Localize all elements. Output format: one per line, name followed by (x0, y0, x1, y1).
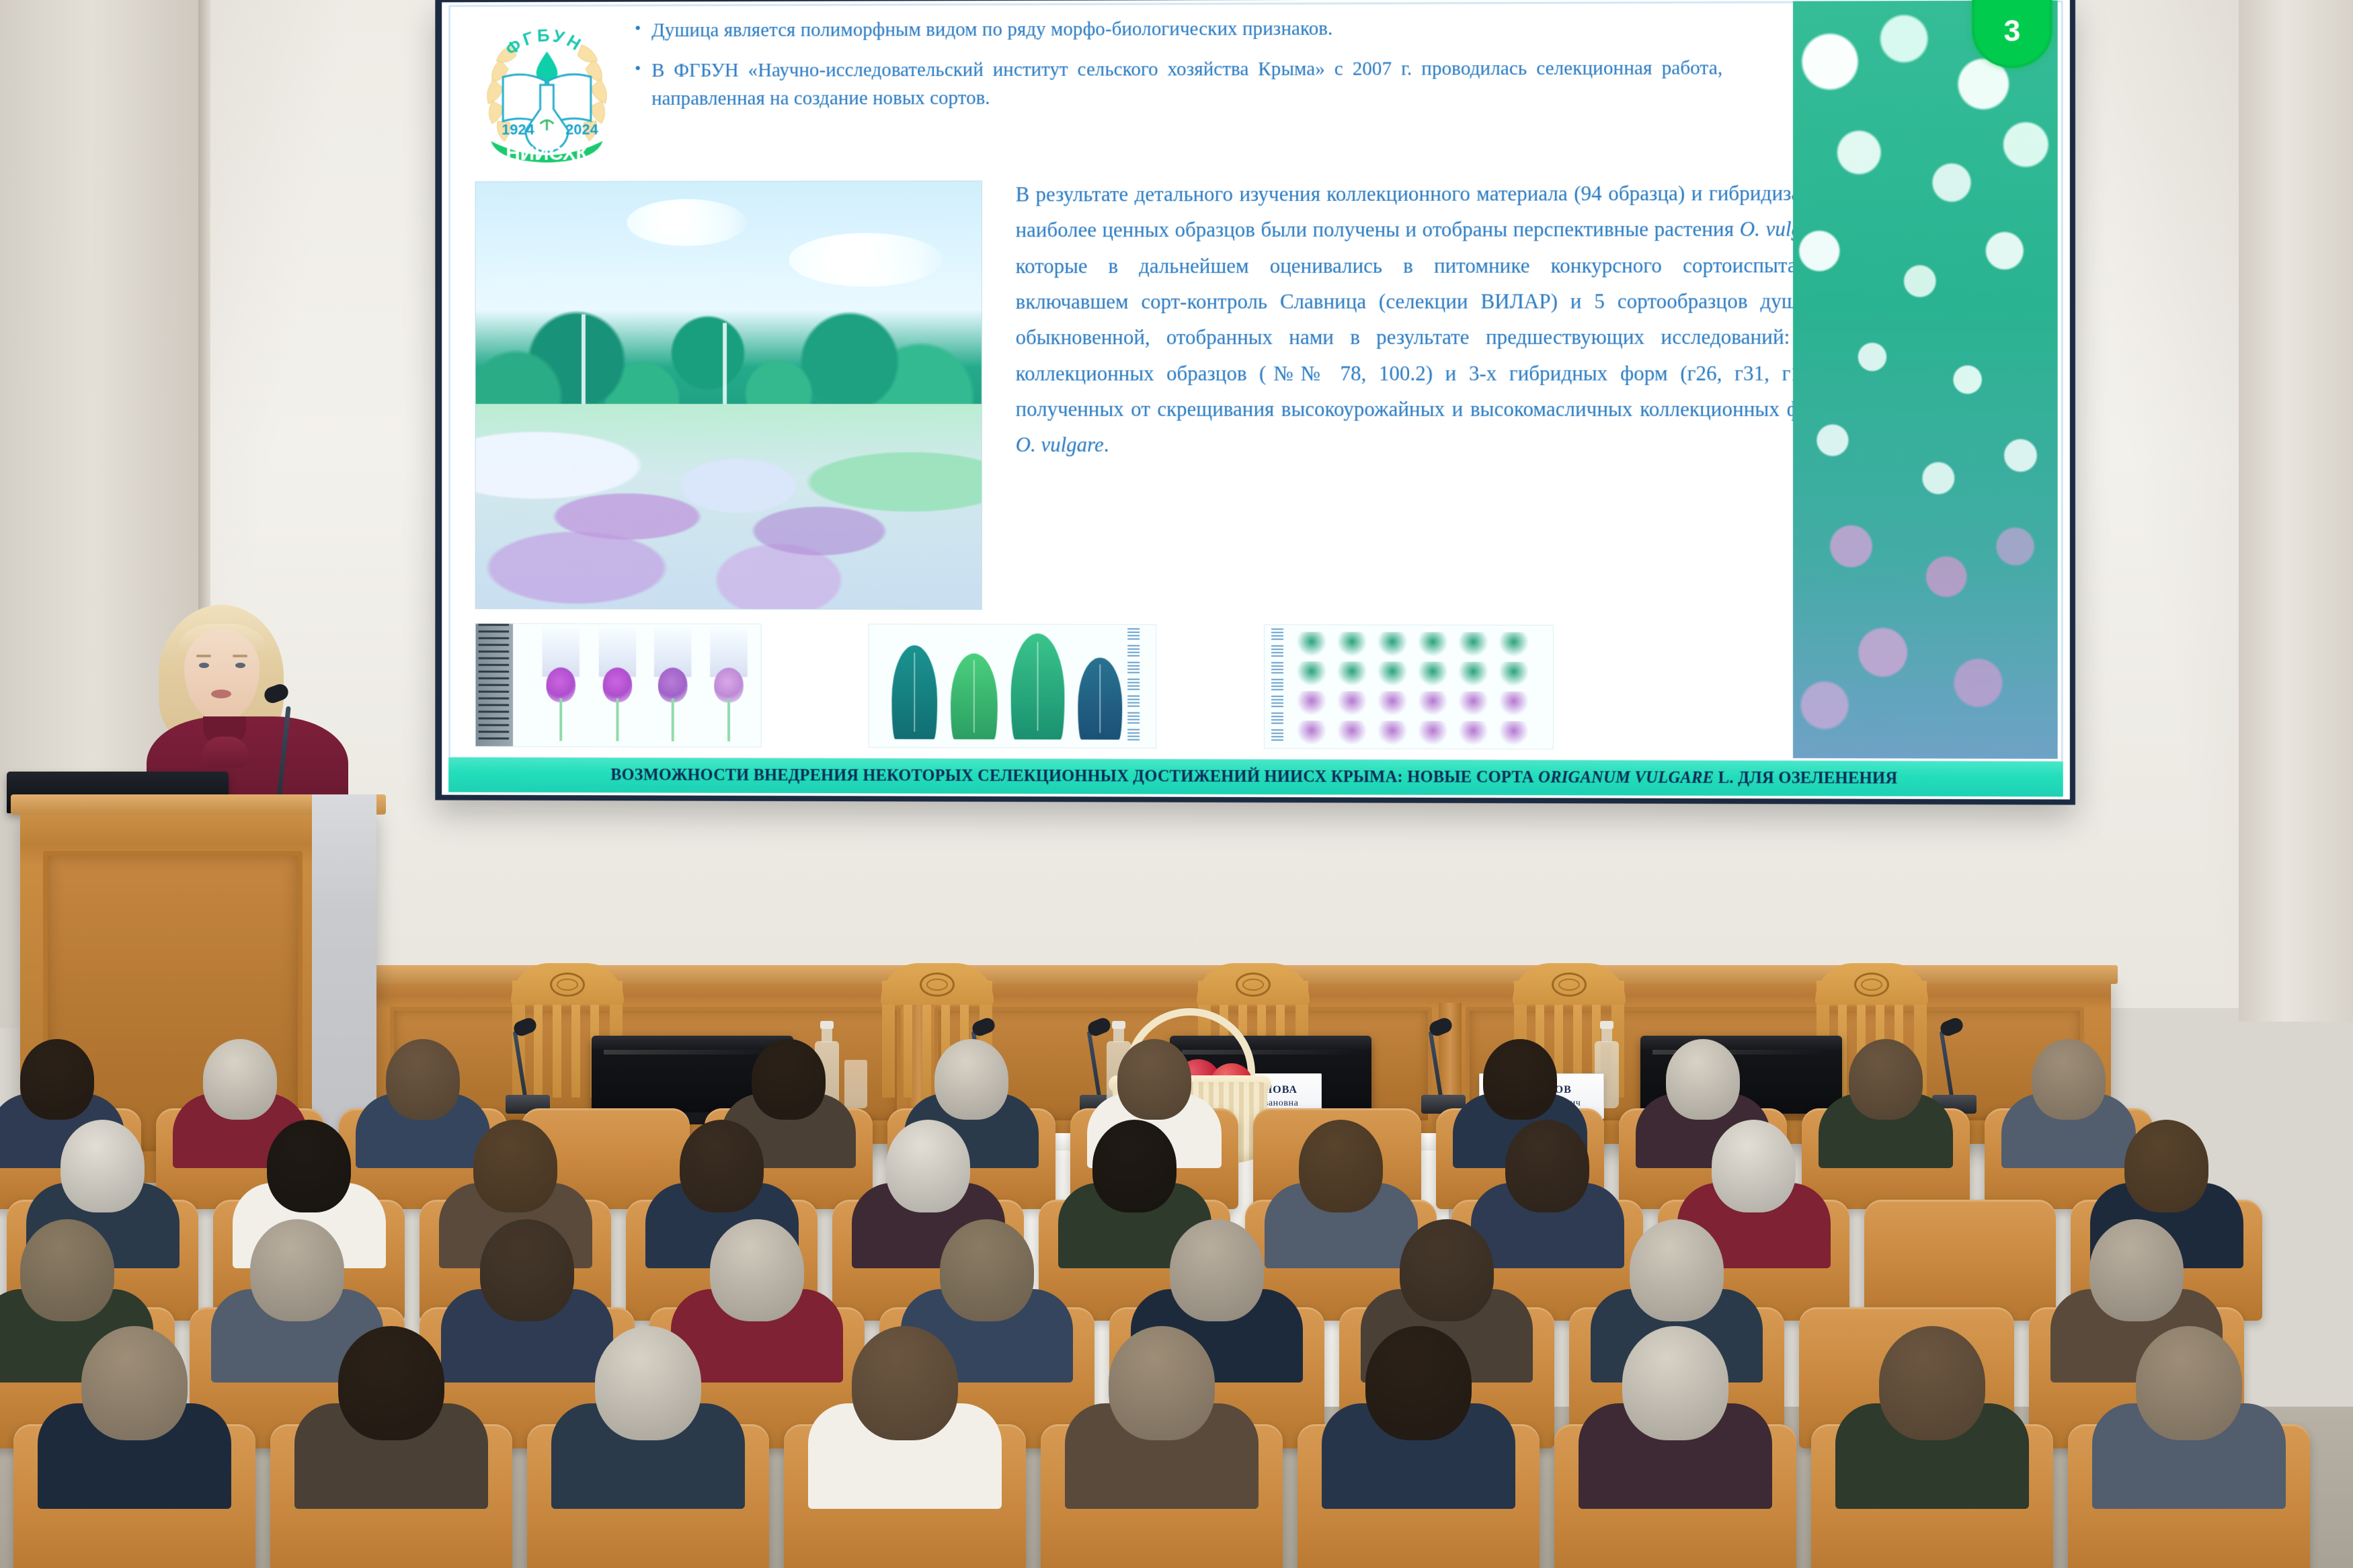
pressed-specimen (1499, 692, 1529, 716)
audience-member-head (480, 1219, 574, 1321)
pressed-specimen (1458, 721, 1488, 745)
audience-member-head (1117, 1039, 1191, 1120)
leaf-specimen (891, 645, 937, 739)
leaf-specimen (1078, 658, 1122, 740)
pressed-specimen (1378, 661, 1407, 686)
pressed-specimen (1418, 661, 1447, 686)
pressed-specimen (1297, 720, 1326, 745)
audience-member-head (2124, 1120, 2208, 1212)
cloud-shape (789, 233, 943, 286)
mouth (211, 690, 231, 698)
audience-member-head (710, 1219, 804, 1321)
audience-member-head (473, 1120, 557, 1212)
pressed-specimen (1499, 721, 1529, 745)
pressed-specimen (1418, 721, 1447, 745)
audience-member-head (203, 1039, 277, 1120)
audience-member-head (1666, 1039, 1740, 1120)
right-wall-pillar (2239, 0, 2353, 1022)
svg-text:НИИСХК: НИИСХК (506, 142, 588, 165)
pressed-specimen (1378, 720, 1407, 745)
audience-member-head (2089, 1219, 2184, 1321)
bullet-item: • В ФГБУН «Научно-исследовательский инст… (635, 54, 1722, 113)
audience-member-head (1109, 1326, 1215, 1440)
eyebrow (196, 655, 211, 657)
pressed-specimen (1297, 661, 1326, 686)
bullet-text: В ФГБУН «Научно-исследовательский инстит… (651, 54, 1722, 113)
audience-member-head (852, 1326, 958, 1440)
audience-member-head (338, 1326, 444, 1440)
audience-member-head (1092, 1120, 1176, 1212)
audience-member-head (1505, 1120, 1589, 1212)
eye (235, 663, 245, 668)
slide-footer-text: ВОЗМОЖНОСТИ ВНЕДРЕНИЯ НЕКОТОРЫХ СЕЛЕКЦИО… (610, 766, 1897, 788)
pressed-specimen (1499, 662, 1529, 686)
audience-member-head (267, 1120, 351, 1212)
pressed-specimen (1458, 662, 1488, 686)
audience-member-head (1365, 1326, 1472, 1440)
audience-member-head (1849, 1039, 1923, 1120)
presentation-slide: ФГБУН 1924 2024 (442, 0, 2070, 799)
field-photo (475, 181, 982, 610)
leaf-specimen (1011, 633, 1065, 739)
pressed-specimen (1418, 692, 1447, 716)
pressed-specimen (1337, 691, 1367, 715)
bullet-dot-icon: • (635, 16, 641, 40)
tall-plantation-photo (1793, 1, 2058, 759)
audience-member-head (886, 1120, 970, 1212)
audience-member-head (940, 1219, 1034, 1321)
audience-member-head (386, 1039, 460, 1120)
leaf-specimen (951, 653, 998, 739)
audience-member-head (1622, 1326, 1728, 1440)
pressed-specimen (1337, 632, 1367, 656)
slide-bullet-list: • Душица является полиморфным видом по р… (635, 13, 1722, 125)
pressed-specimen (1458, 692, 1488, 716)
cloud-shape (627, 199, 748, 246)
audience-member-head (1170, 1219, 1264, 1321)
pressed-specimen (1378, 632, 1407, 656)
bullet-text: Душица является полиморфным видом по ряд… (651, 13, 1722, 44)
pressed-specimen (1378, 691, 1407, 715)
ruler-icon (1127, 625, 1150, 748)
projection-screen: ФГБУН 1924 2024 (442, 0, 2070, 799)
blouse-bow (202, 737, 249, 768)
audience-member-head (1712, 1120, 1796, 1212)
institute-logo: ФГБУН 1924 2024 (474, 13, 621, 165)
flower-specimens-photo (475, 623, 762, 747)
pressed-specimen (1458, 632, 1488, 657)
pressed-specimen (1297, 632, 1326, 656)
audience-member-head (1630, 1219, 1724, 1321)
projection-screen-frame: ФГБУН 1924 2024 (435, 0, 2075, 805)
audience-member-head (1299, 1120, 1383, 1212)
audience-member-head (934, 1039, 1008, 1120)
audience-member-head (20, 1219, 114, 1321)
slide-paragraph: В результате детального изучения коллекц… (1016, 175, 1835, 463)
conference-hall-photo: ФГБУН 1924 2024 (0, 0, 2353, 1568)
slide-footer-banner: ВОЗМОЖНОСТИ ВНЕДРЕНИЯ НЕКОТОРЫХ СЕЛЕКЦИО… (448, 757, 2063, 796)
ruler-icon (476, 624, 513, 746)
audience-member-head (20, 1039, 94, 1120)
audience-member-head (2032, 1039, 2106, 1120)
eye (199, 663, 209, 668)
bullet-item: • Душица является полиморфным видом по р… (635, 13, 1722, 44)
pressed-specimen (1499, 632, 1529, 657)
audience-member-head (81, 1326, 188, 1440)
pressed-specimen (1418, 632, 1447, 656)
pressed-specimen (1337, 661, 1367, 686)
oregano-field (476, 404, 982, 610)
audience-member-head (680, 1120, 764, 1212)
svg-text:1924: 1924 (502, 121, 534, 138)
audience-member-head (61, 1120, 145, 1212)
slide-number-text: 3 (2004, 15, 2021, 48)
plant-specimens-photo (1264, 624, 1554, 749)
pressed-specimen-grid (1265, 625, 1553, 626)
leaf-specimens-photo (869, 624, 1156, 749)
audience-member-head (250, 1219, 344, 1321)
audience-member-head (752, 1039, 826, 1120)
audience-member-head (2136, 1326, 2242, 1440)
ruler-icon (1271, 625, 1294, 748)
svg-text:2024: 2024 (565, 121, 598, 138)
auditorium-seat (1864, 1200, 2056, 1321)
audience-member-head (595, 1326, 701, 1440)
pressed-specimen (1297, 691, 1326, 715)
audience-member-head (1879, 1326, 1985, 1440)
eyebrow (233, 655, 247, 657)
audience-member-head (1400, 1219, 1494, 1321)
audience-member-head (1483, 1039, 1557, 1120)
pressed-specimen (1337, 720, 1367, 745)
bullet-dot-icon: • (635, 56, 641, 80)
audience-seating (0, 1044, 2353, 1568)
svg-text:ФГБУН: ФГБУН (502, 26, 586, 60)
